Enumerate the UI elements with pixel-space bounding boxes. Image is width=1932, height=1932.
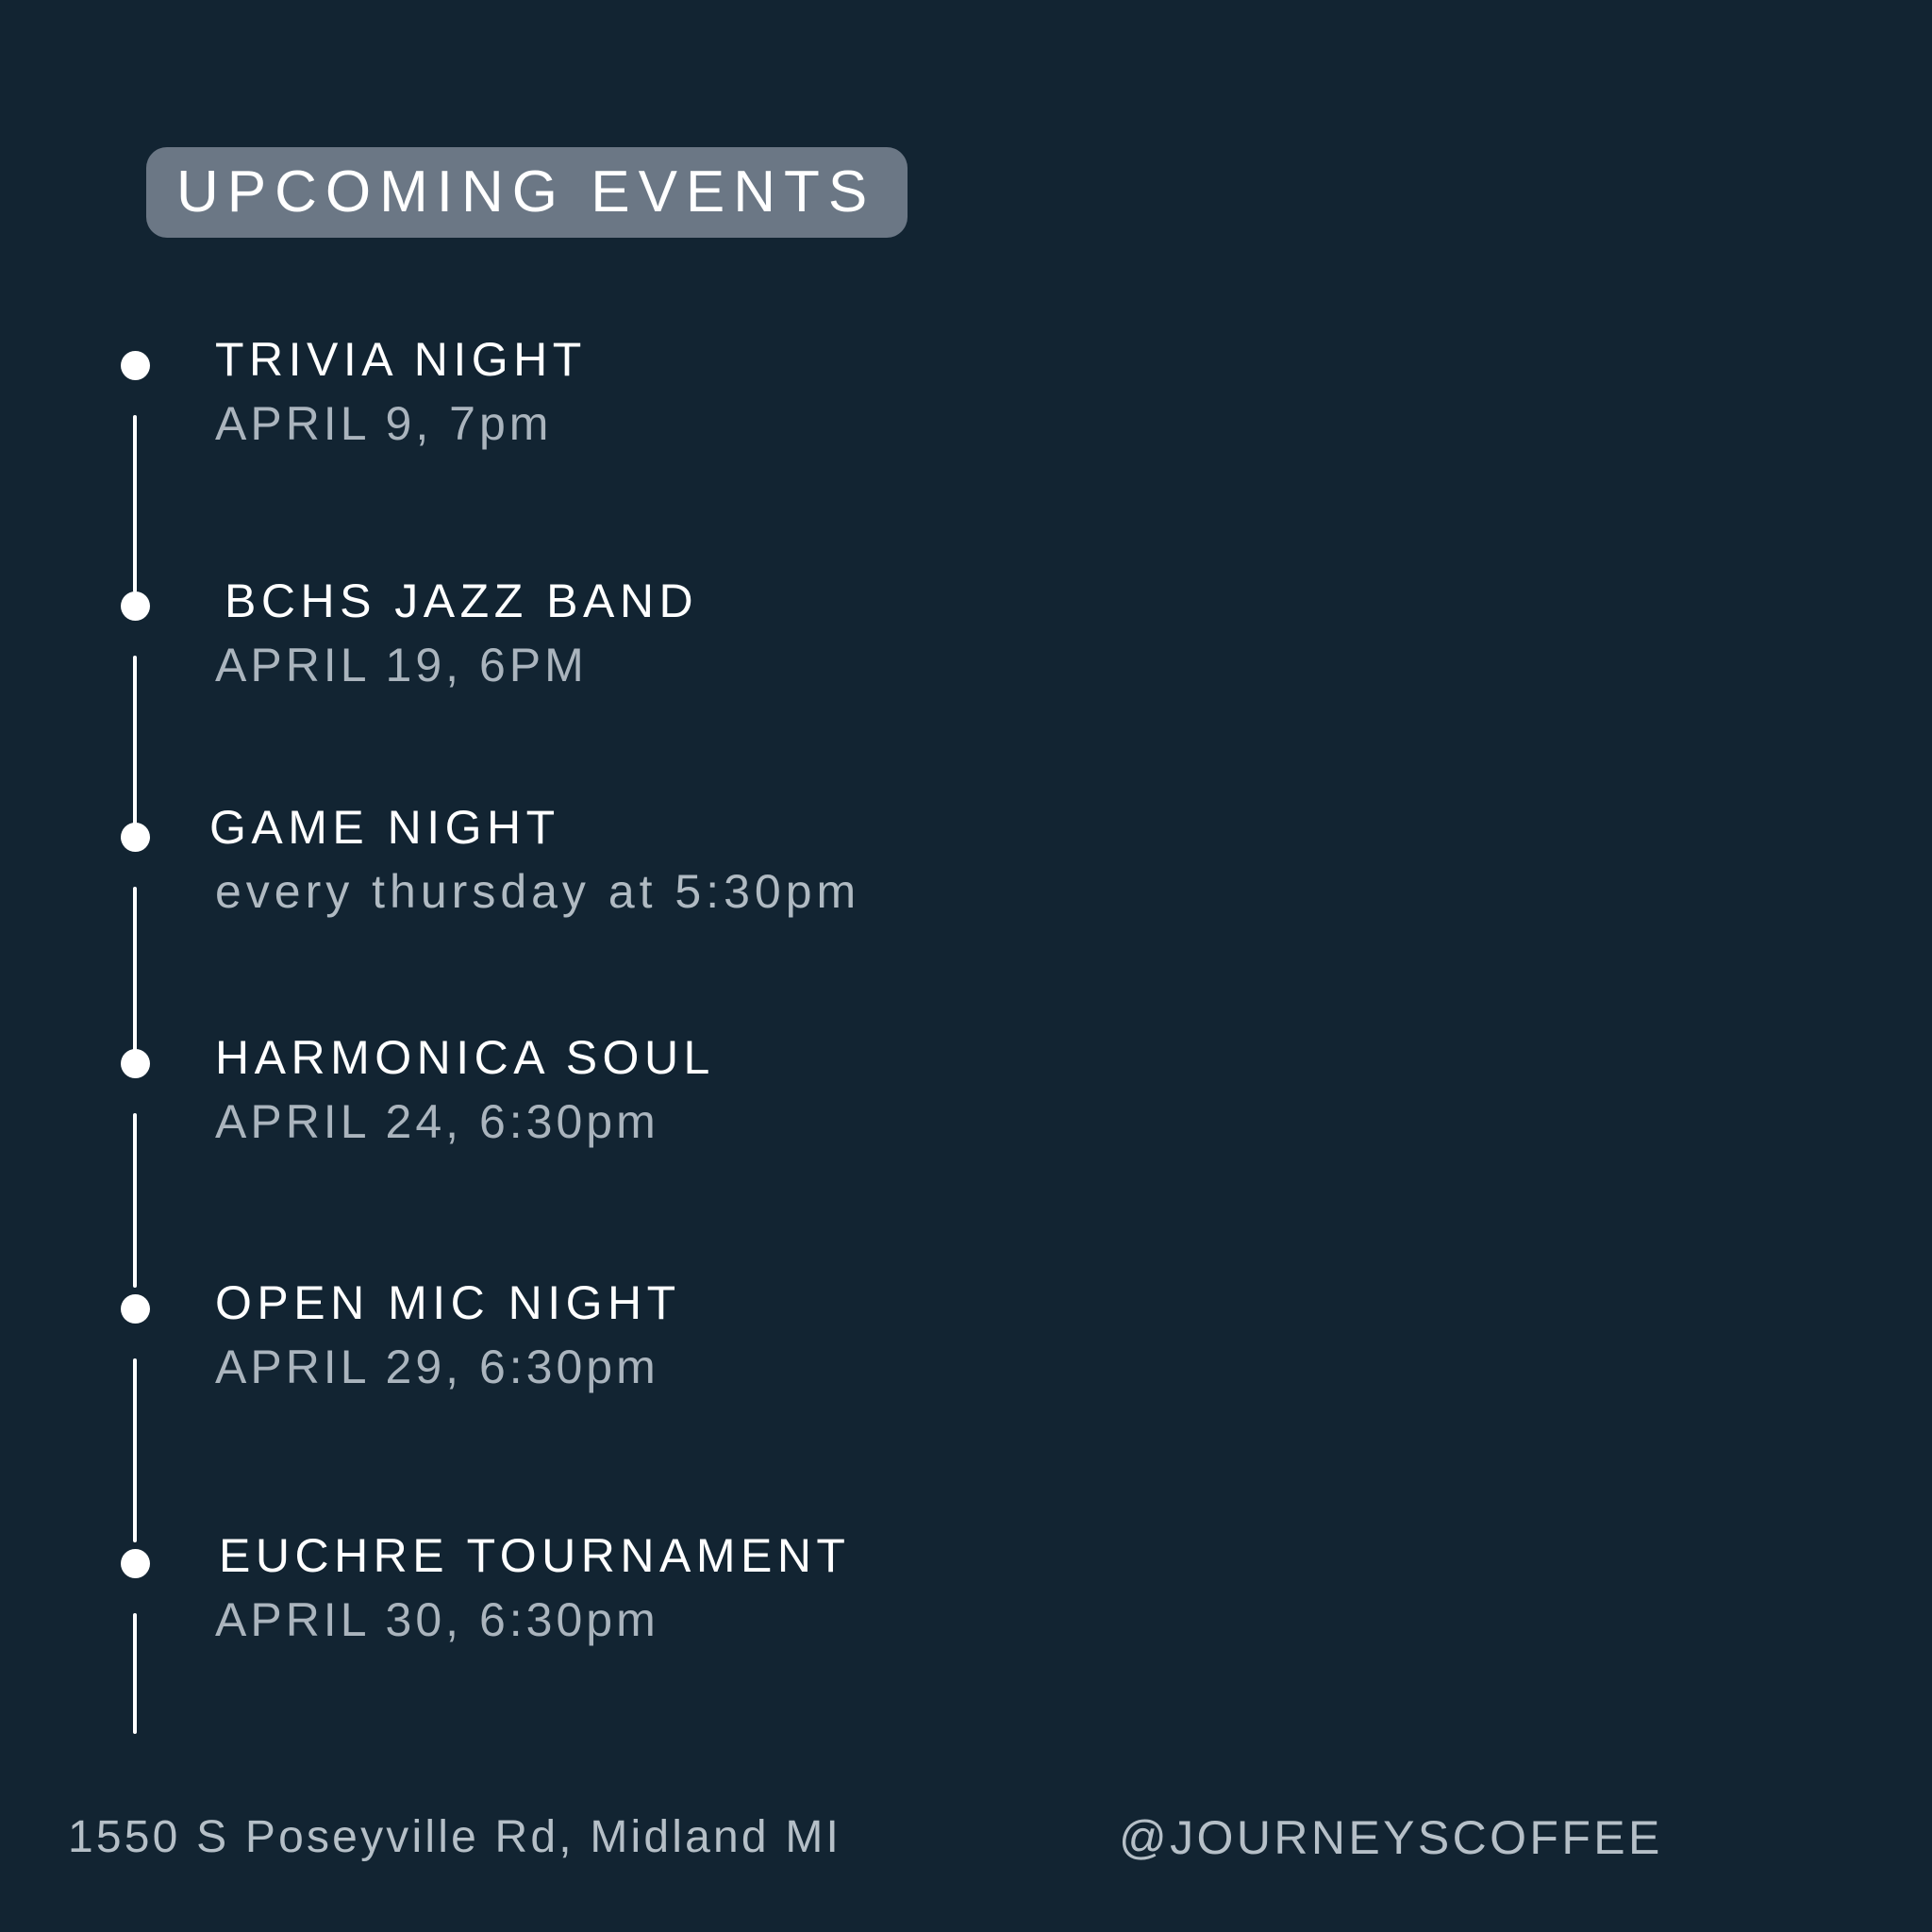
event-datetime: every thursday at 5:30pm — [215, 864, 1792, 919]
footer: 1550 S Poseyville Rd, Midland MI @JOURNE… — [0, 1809, 1932, 1913]
event-item: BCHS JAZZ BANDAPRIL 19, 6PM — [0, 574, 1792, 692]
footer-social-handle: @JOURNEYSCOFFEE — [1119, 1809, 1663, 1866]
event-title: HARMONICA SOUL — [215, 1030, 1792, 1085]
event-title: TRIVIA NIGHT — [215, 332, 1792, 387]
event-datetime: APRIL 19, 6PM — [215, 638, 1792, 692]
event-title: BCHS JAZZ BAND — [225, 574, 1792, 628]
event-poster: UPCOMING EVENTS TRIVIA NIGHTAPRIL 9, 7pm… — [0, 0, 1932, 1932]
event-datetime: APRIL 30, 6:30pm — [215, 1592, 1792, 1647]
event-item: HARMONICA SOULAPRIL 24, 6:30pm — [0, 1030, 1792, 1149]
event-item: EUCHRE TOURNAMENTAPRIL 30, 6:30pm — [0, 1528, 1792, 1647]
event-title: OPEN MIC NIGHT — [215, 1275, 1792, 1330]
event-title: GAME NIGHT — [209, 800, 1792, 855]
event-title: EUCHRE TOURNAMENT — [219, 1528, 1792, 1583]
event-datetime: APRIL 24, 6:30pm — [215, 1094, 1792, 1149]
event-datetime: APRIL 29, 6:30pm — [215, 1340, 1792, 1394]
event-item: TRIVIA NIGHTAPRIL 9, 7pm — [0, 332, 1792, 451]
footer-address: 1550 S Poseyville Rd, Midland MI — [68, 1809, 841, 1866]
event-item: GAME NIGHTevery thursday at 5:30pm — [0, 800, 1792, 919]
event-datetime: APRIL 9, 7pm — [215, 396, 1792, 451]
event-item: OPEN MIC NIGHTAPRIL 29, 6:30pm — [0, 1275, 1792, 1394]
